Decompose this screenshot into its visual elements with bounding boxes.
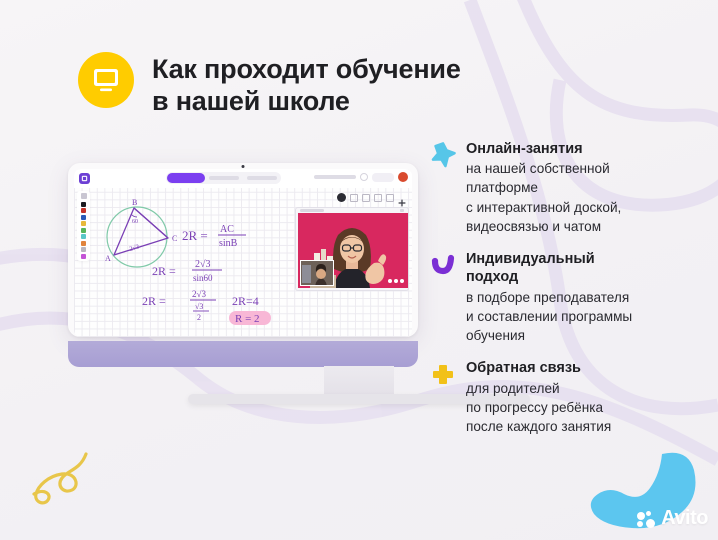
color-swatch[interactable] <box>81 234 86 239</box>
eraser-tool-icon[interactable] <box>362 194 370 202</box>
color-swatch[interactable] <box>81 241 86 246</box>
whiteboard-drawing: B A C 60 2√3 2R = AC sinB 2R = 2√3 sin60 <box>92 193 292 333</box>
drawing-toolbar[interactable] <box>337 193 406 202</box>
feature-heading-line1: Индивидуальный <box>466 251 595 267</box>
shape-tool-icon[interactable] <box>350 194 358 202</box>
color-swatch[interactable] <box>81 221 86 226</box>
color-swatch[interactable] <box>81 208 86 213</box>
page-root: Как проходит обучение в нашей школе <box>0 0 718 540</box>
feature-heading: Обратная связь <box>466 359 611 377</box>
avito-watermark: Avito <box>637 507 708 530</box>
svg-text:60: 60 <box>132 219 138 225</box>
star-icon <box>430 142 456 168</box>
svg-text:2: 2 <box>197 313 201 322</box>
video-options-icon[interactable] <box>388 279 404 283</box>
feature-heading: Онлайн-занятия <box>466 140 621 158</box>
monitor-neck <box>324 366 394 396</box>
feature-body-line: по прогрессу ребёнка <box>466 398 611 417</box>
feature-item-feedback: Обратная связь для родителей по прогресс… <box>430 359 702 436</box>
page-header: Как проходит обучение в нашей школе <box>78 52 461 117</box>
svg-text:2R=4: 2R=4 <box>232 294 259 308</box>
lesson-title-label <box>314 175 356 179</box>
svg-text:sin60: sin60 <box>193 273 213 283</box>
svg-text:2√3: 2√3 <box>192 289 206 299</box>
feature-body: на нашей собственной платформе с интерак… <box>466 159 621 236</box>
text-tool-icon[interactable] <box>374 194 382 202</box>
feature-item-individual-approach: Индивидуальный подход в подборе преподав… <box>430 250 702 345</box>
pip-student-video[interactable] <box>300 260 334 286</box>
page-title-line2: в нашей школе <box>152 86 461 118</box>
page-title: Как проходит обучение в нашей школе <box>152 52 461 117</box>
monitor-mockup: B A C 60 2√3 2R = AC sinB 2R = 2√3 sin60 <box>68 163 418 367</box>
avito-brand-name: Avito <box>661 507 708 530</box>
webcam-dot <box>242 165 245 168</box>
tool-sidebar[interactable] <box>77 191 90 261</box>
feature-list: Онлайн-занятия на нашей собственной плат… <box>430 140 702 450</box>
feature-body: в подборе преподавателя и составлении пр… <box>466 288 632 346</box>
board-tabs[interactable] <box>166 172 281 184</box>
svg-text:B: B <box>132 198 137 207</box>
app-topbar <box>74 169 412 188</box>
crescent-icon <box>430 252 456 278</box>
feature-body-line: и составлении программы <box>466 307 632 326</box>
svg-text:2√3: 2√3 <box>128 242 140 252</box>
tab-third[interactable] <box>247 176 277 180</box>
plus-icon <box>430 361 456 387</box>
monitor-screen: B A C 60 2√3 2R = AC sinB 2R = 2√3 sin60 <box>74 169 412 337</box>
monitor-frame: B A C 60 2√3 2R = AC sinB 2R = 2√3 sin60 <box>68 163 418 337</box>
info-icon[interactable] <box>360 173 368 181</box>
monitor-icon <box>78 52 134 108</box>
feature-body-line: обучения <box>466 326 632 345</box>
svg-text:√3: √3 <box>195 302 203 311</box>
feature-item-online-lessons: Онлайн-занятия на нашей собственной плат… <box>430 140 702 236</box>
squiggle-decoration <box>28 452 108 512</box>
feature-body-line: на нашей собственной <box>466 159 621 178</box>
svg-text:R = 2: R = 2 <box>235 313 260 325</box>
avito-dots-icon <box>637 510 657 528</box>
video-panel-title <box>300 209 324 212</box>
end-call-button[interactable] <box>398 172 408 182</box>
svg-text:AC: AC <box>220 224 234 235</box>
color-swatch[interactable] <box>81 247 86 252</box>
feature-body-line: с интерактивной доской, <box>466 198 621 217</box>
color-swatch[interactable] <box>81 215 86 220</box>
image-tool-icon[interactable] <box>386 194 394 202</box>
svg-text:2R =: 2R = <box>142 294 166 308</box>
color-swatch[interactable] <box>81 202 86 207</box>
svg-text:2R =: 2R = <box>182 228 208 243</box>
feature-body-line: после каждого занятия <box>466 417 611 436</box>
pen-tool-icon[interactable] <box>337 193 346 202</box>
feature-heading-line2: подход <box>466 269 518 285</box>
close-icon[interactable] <box>400 209 404 212</box>
monitor-chin <box>68 341 418 367</box>
feature-heading: Индивидуальный подход <box>466 250 632 286</box>
topbar-right <box>314 172 408 182</box>
svg-text:2R =: 2R = <box>152 264 176 278</box>
select-tool-icon[interactable] <box>81 193 87 199</box>
video-panel[interactable] <box>295 207 409 291</box>
feature-body-line: в подборе преподавателя <box>466 288 632 307</box>
video-stage <box>298 213 408 288</box>
feature-body-line: для родителей <box>466 379 611 398</box>
svg-text:sinB: sinB <box>219 238 238 249</box>
color-swatch[interactable] <box>81 254 86 259</box>
app-logo-icon[interactable] <box>79 173 90 184</box>
svg-text:A: A <box>105 254 111 263</box>
svg-text:C: C <box>172 234 177 243</box>
tab-second[interactable] <box>209 176 239 180</box>
color-swatch[interactable] <box>81 228 86 233</box>
feature-body-line: видеосвязью и чатом <box>466 217 621 236</box>
tab-active[interactable] <box>167 173 205 183</box>
feature-body-line: платформе <box>466 178 621 197</box>
feature-body: для родителей по прогрессу ребёнка после… <box>466 379 611 437</box>
add-tool-icon[interactable] <box>398 194 406 202</box>
share-button[interactable] <box>372 173 394 182</box>
svg-text:2√3: 2√3 <box>195 259 211 270</box>
page-title-line1: Как проходит обучение <box>152 54 461 84</box>
